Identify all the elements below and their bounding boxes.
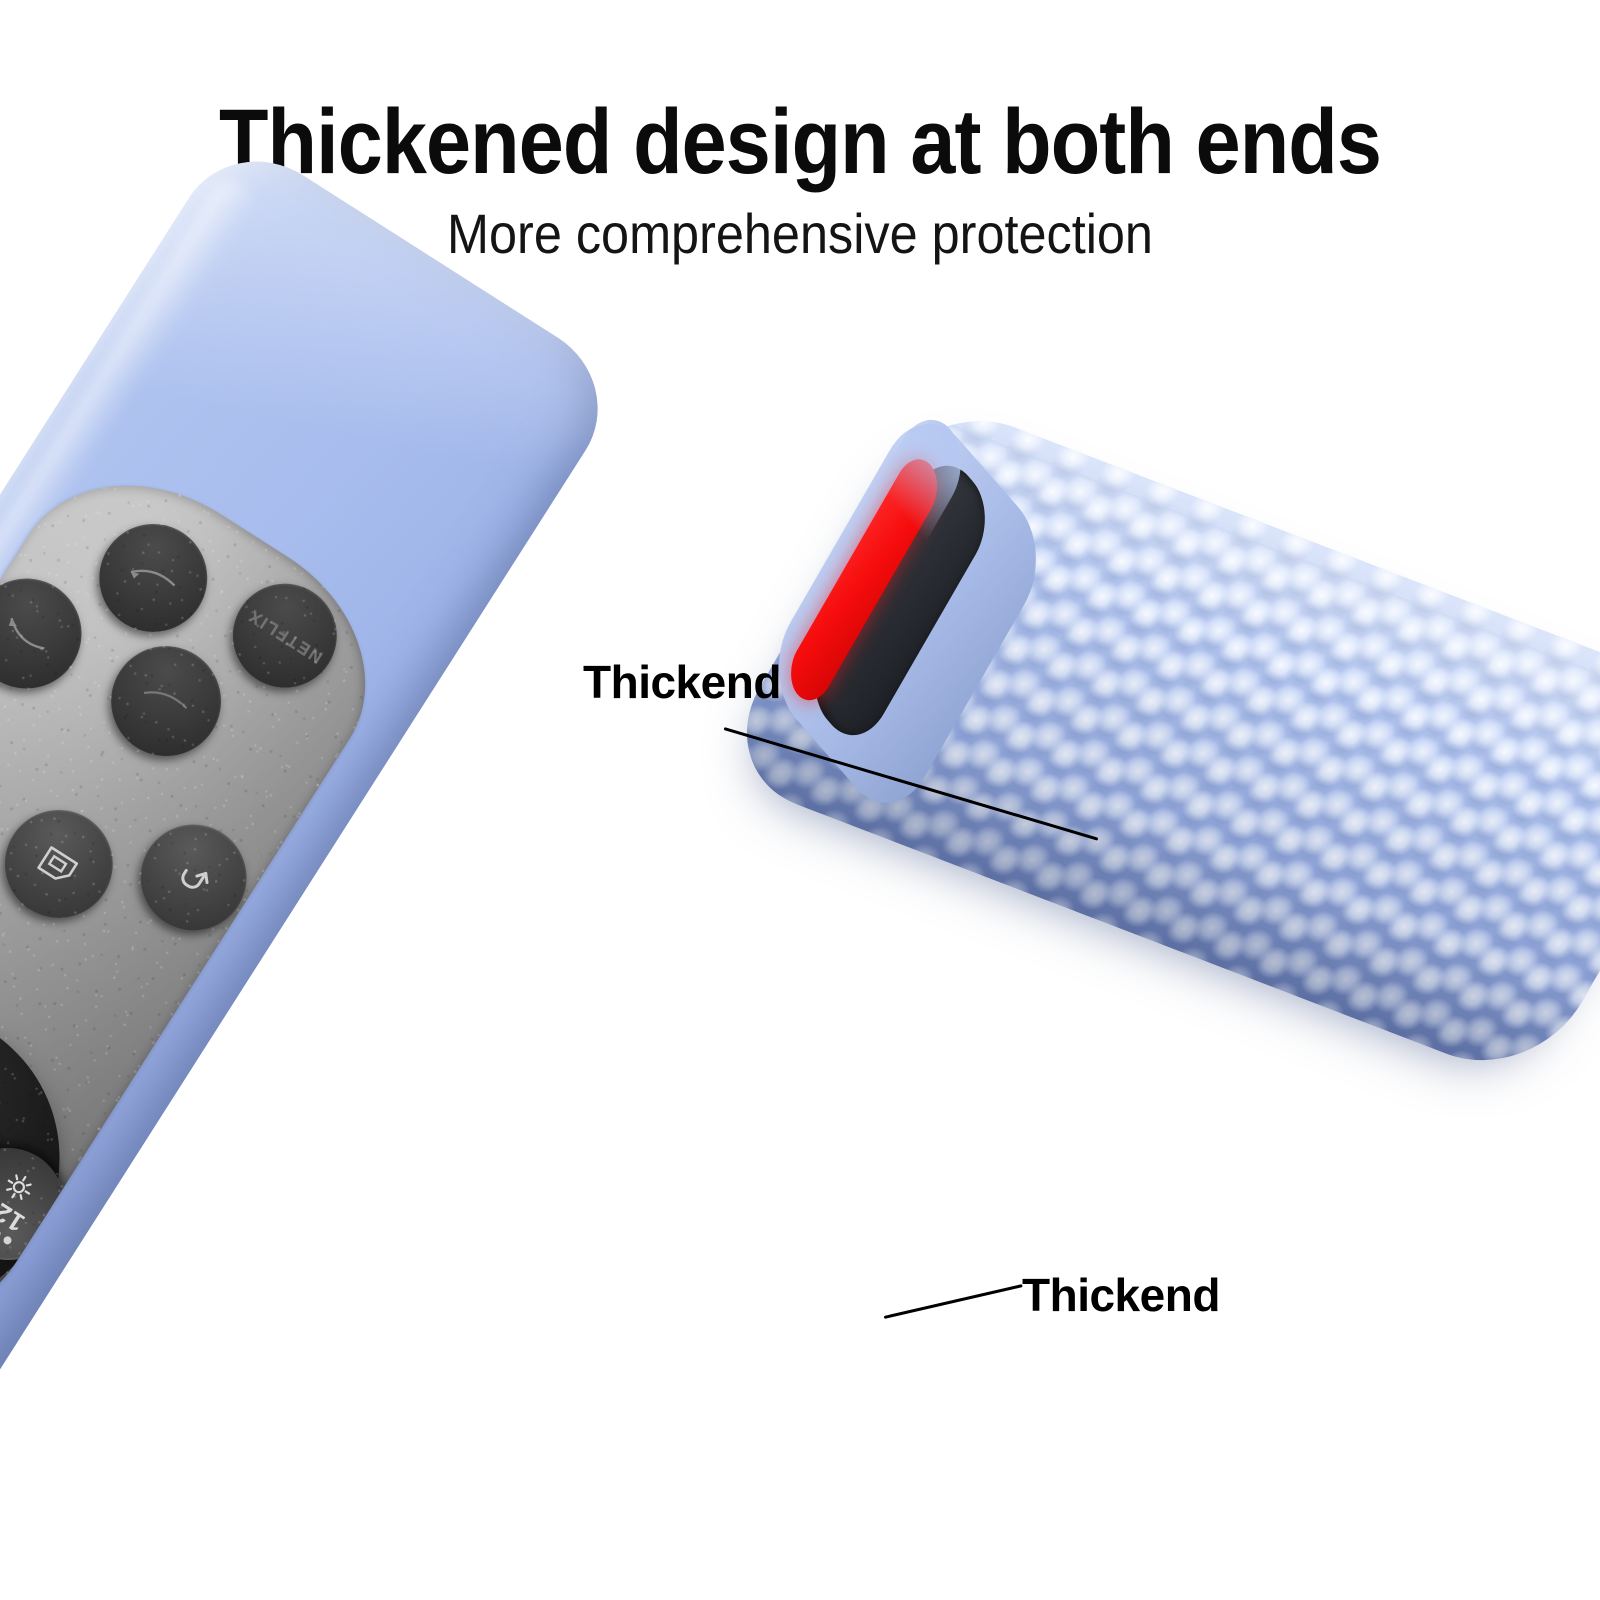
netflix-icon: NETFLIX <box>244 604 326 666</box>
product-image-canvas: Thickened design at both ends More compr… <box>0 0 1600 1600</box>
dots-icon <box>0 1214 13 1246</box>
callout-label-top: Thickend <box>583 655 781 709</box>
home-shield-icon <box>26 831 92 897</box>
remote-in-case-left: + △ ▽ NETFLIX <box>0 130 629 1530</box>
app-button-top-left[interactable] <box>79 503 228 652</box>
gear-icon <box>0 1166 40 1207</box>
app-button-left[interactable] <box>0 558 102 710</box>
app-logo-icon <box>121 549 186 608</box>
home-button[interactable] <box>0 789 133 938</box>
callout-label-bottom: Thickend <box>1022 1268 1220 1322</box>
app-logo-icon <box>135 674 197 728</box>
leader-line-bottom <box>884 1284 1023 1319</box>
app-logo-icon <box>0 604 60 664</box>
settings-number-label: 123 <box>0 1190 29 1237</box>
back-arrow-icon <box>160 844 226 910</box>
silicone-case-right <box>711 394 1600 1086</box>
app-button-center[interactable] <box>90 625 242 777</box>
page-title: Thickened design at both ends <box>96 96 1504 188</box>
